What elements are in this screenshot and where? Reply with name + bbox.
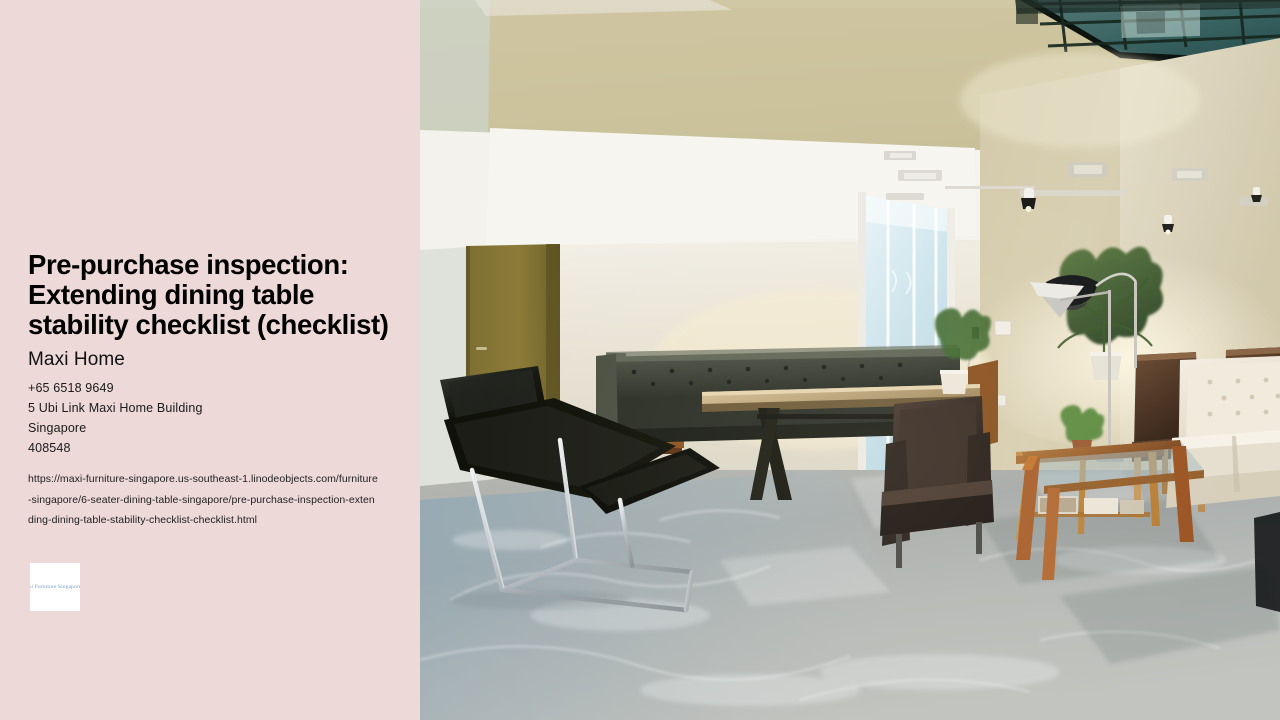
info-content: Pre-purchase inspection: Extending dinin… [28, 250, 400, 531]
logo-text: Maxi Furniture Singapore [30, 584, 80, 590]
address-city: Singapore [28, 418, 400, 438]
page-title: Pre-purchase inspection: Extending dinin… [28, 250, 400, 340]
page-root: Pre-purchase inspection: Extending dinin… [0, 0, 1280, 720]
showroom-photo-illustration [420, 0, 1280, 720]
company-name: Maxi Home [28, 348, 400, 372]
address-street: 5 Ubi Link Maxi Home Building [28, 398, 400, 418]
showroom-photo: Modern furniture showroom interior with … [420, 0, 1280, 720]
phone-number[interactable]: +65 6518 9649 [28, 378, 400, 398]
logo-card: Maxi Furniture Singapore [30, 563, 80, 611]
address-postal-code: 408548 [28, 438, 400, 458]
info-panel: Pre-purchase inspection: Extending dinin… [0, 0, 420, 720]
page-url[interactable]: https://maxi-furniture-singapore.us-sout… [28, 469, 378, 531]
